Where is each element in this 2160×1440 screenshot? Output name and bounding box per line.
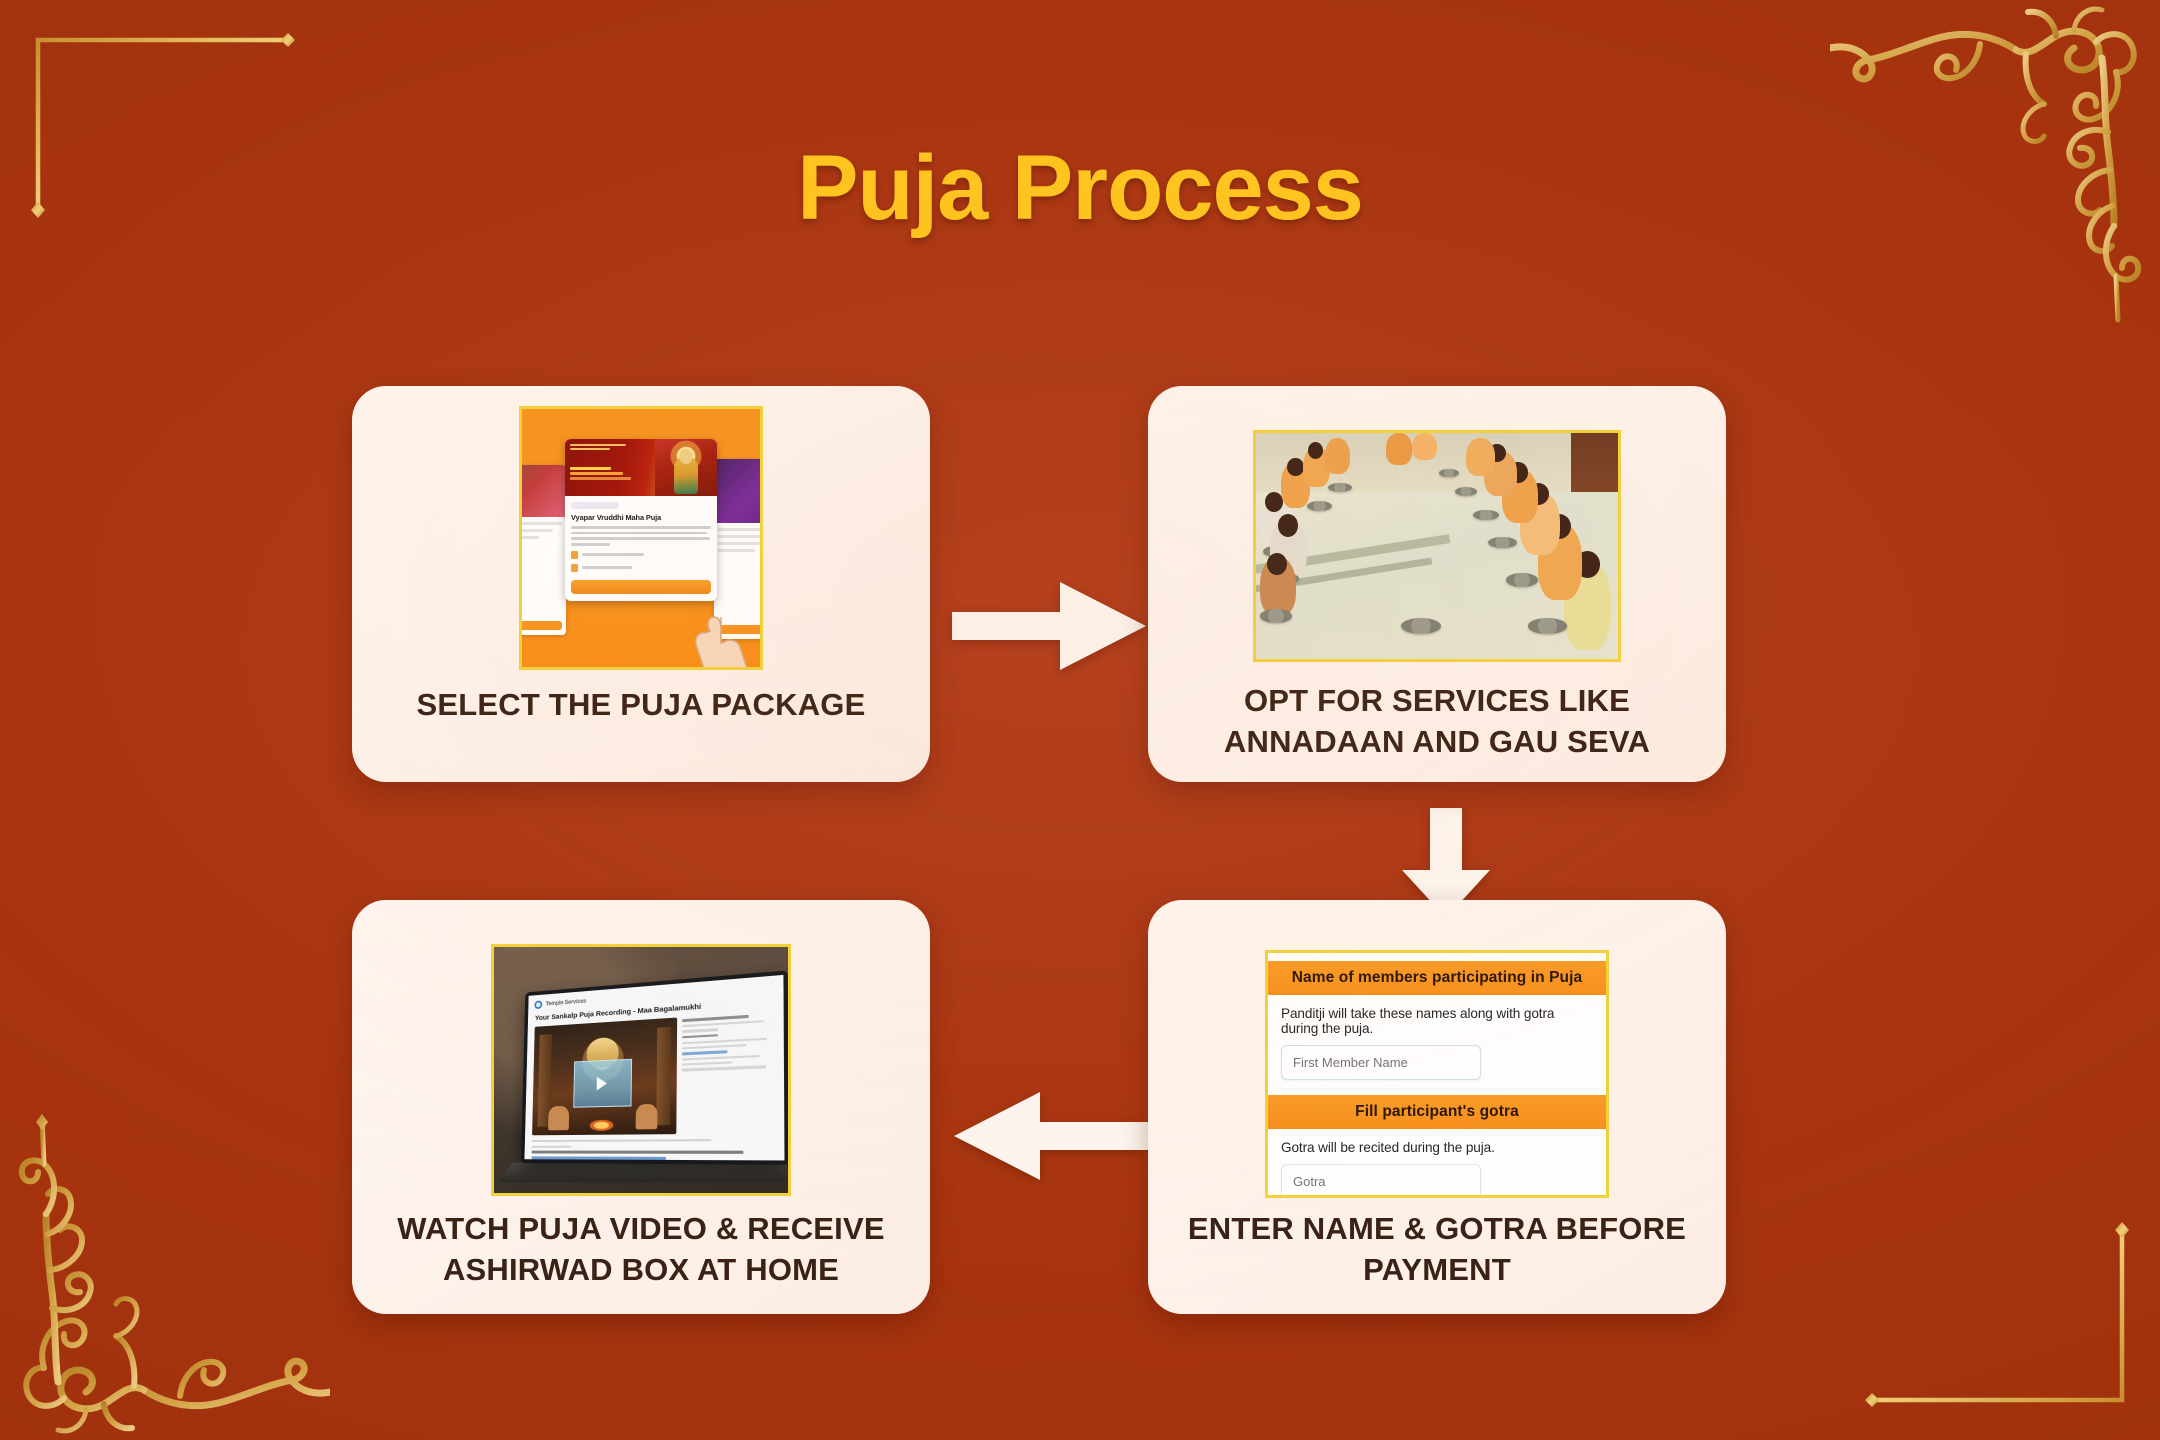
- puja-banner-image: [565, 439, 717, 496]
- corner-ornament-bottom-left: [0, 1110, 330, 1440]
- step-caption: SELECT THE PUJA PACKAGE: [352, 684, 930, 725]
- laptop-screen: Temple Services Your Sankalp Puja Record…: [521, 971, 788, 1166]
- deity-illustration: [655, 439, 717, 496]
- puja-recording-laptop-photo: Temple Services Your Sankalp Puja Record…: [491, 944, 791, 1196]
- infographic-canvas: Puja Process: [0, 0, 2160, 1440]
- video-thumbnail[interactable]: [532, 1018, 677, 1135]
- arrow-step3-to-step4: [952, 1088, 1148, 1184]
- arrow-step1-to-step2: [952, 578, 1148, 674]
- members-section-header: Name of members participating in Puja: [1268, 961, 1606, 995]
- email-sidebar-text: [681, 1012, 776, 1135]
- gotra-entry-form-screenshot: Name of members participating in Puja Pa…: [1265, 950, 1609, 1198]
- gotra-section-header: Fill participant's gotra: [1268, 1095, 1606, 1129]
- step-card-watch-video-receive-box[interactable]: Temple Services Your Sankalp Puja Record…: [352, 900, 930, 1314]
- puja-package-listing-screenshot: Vyapar Vruddhi Maha Puja: [519, 406, 763, 670]
- step-card-enter-name-gotra[interactable]: Name of members participating in Puja Pa…: [1148, 900, 1726, 1314]
- package-detail-datetime: [571, 564, 711, 572]
- annadaan-seva-photo: [1253, 430, 1621, 662]
- step-card-opt-for-services[interactable]: OPT FOR SERVICES LIKE ANNADAAN AND GAU S…: [1148, 386, 1726, 782]
- book-seva-button[interactable]: [571, 580, 711, 594]
- package-card[interactable]: Vyapar Vruddhi Maha Puja: [565, 439, 717, 601]
- step-caption: OPT FOR SERVICES LIKE ANNADAAN AND GAU S…: [1148, 680, 1726, 762]
- side-package-card-left: [519, 465, 566, 635]
- step-caption: ENTER NAME & GOTRA BEFORE PAYMENT: [1148, 1208, 1726, 1290]
- gotra-input[interactable]: [1281, 1164, 1481, 1198]
- step-card-select-puja-package[interactable]: Vyapar Vruddhi Maha Puja: [352, 386, 930, 782]
- package-title: Vyapar Vruddhi Maha Puja: [571, 514, 711, 522]
- play-icon[interactable]: [597, 1077, 608, 1091]
- first-member-name-input[interactable]: [1281, 1045, 1481, 1080]
- package-description: [571, 526, 711, 545]
- step-caption: WATCH PUJA VIDEO & RECEIVE ASHIRWAD BOX …: [352, 1208, 930, 1290]
- package-detail-location: [571, 551, 711, 559]
- pointing-hand-cursor: [692, 603, 754, 670]
- gotra-section-note: Gotra will be recited during the puja.: [1281, 1140, 1593, 1155]
- page-title: Puja Process: [0, 142, 2160, 234]
- package-badge: [571, 502, 619, 509]
- members-section-note: Panditji will take these names along wit…: [1281, 1006, 1593, 1036]
- email-body-text: [524, 1134, 785, 1161]
- corner-ornament-bottom-right: [1846, 1216, 2146, 1426]
